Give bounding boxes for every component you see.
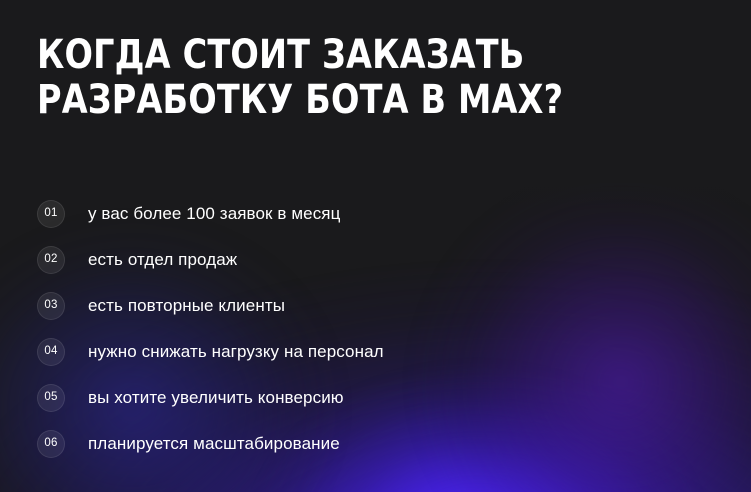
item-label: есть повторные клиенты <box>88 292 285 320</box>
list-item: 05 вы хотите увеличить конверсию <box>37 384 697 412</box>
list-item: 06 планируется масштабирование <box>37 430 697 458</box>
slide-content: Когда стоит заказать разработку бота в M… <box>0 0 751 492</box>
item-label: есть отдел продаж <box>88 246 237 274</box>
item-number-badge: 01 <box>37 200 65 228</box>
slide-root: Когда стоит заказать разработку бота в M… <box>0 0 751 492</box>
item-label: планируется масштабирование <box>88 430 340 458</box>
list-item: 03 есть повторные клиенты <box>37 292 697 320</box>
item-number-badge: 02 <box>37 246 65 274</box>
list-item: 04 нужно снижать нагрузку на персонал <box>37 338 697 366</box>
slide-title: Когда стоит заказать разработку бота в M… <box>37 33 632 123</box>
list-item: 02 есть отдел продаж <box>37 246 697 274</box>
item-number-badge: 06 <box>37 430 65 458</box>
list-item: 01 у вас более 100 заявок в месяц <box>37 200 697 228</box>
item-label: вы хотите увеличить конверсию <box>88 384 344 412</box>
item-number-badge: 05 <box>37 384 65 412</box>
item-number-badge: 03 <box>37 292 65 320</box>
criteria-list: 01 у вас более 100 заявок в месяц 02 ест… <box>37 200 697 458</box>
item-label: нужно снижать нагрузку на персонал <box>88 338 384 366</box>
item-number-badge: 04 <box>37 338 65 366</box>
item-label: у вас более 100 заявок в месяц <box>88 200 340 228</box>
